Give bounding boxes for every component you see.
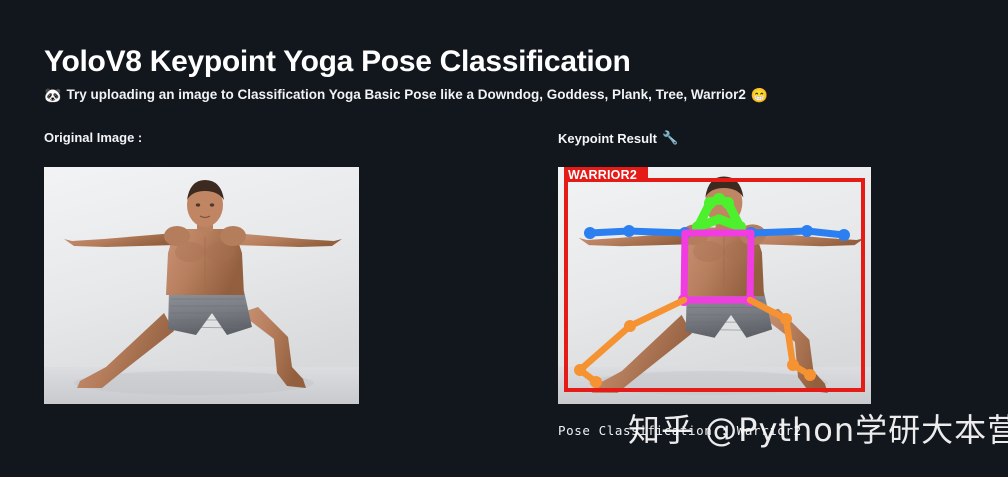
pose-classification-caption: Pose Classification : Warrior2 xyxy=(558,423,802,438)
original-image-canvas xyxy=(44,167,359,404)
grinning-face-icon: 😁 xyxy=(751,88,768,102)
keypoint-result-label: Keypoint Result 🔧 xyxy=(558,130,678,146)
page-subtitle: 🐼 Try uploading an image to Classificati… xyxy=(44,87,768,102)
page-subtitle-text: Try uploading an image to Classification… xyxy=(66,87,745,102)
panda-face-icon: 🐼 xyxy=(44,88,61,102)
keypoint-result-label-text: Keypoint Result xyxy=(558,131,657,146)
app-root: YoloV8 Keypoint Yoga Pose Classification… xyxy=(0,0,1008,477)
original-image xyxy=(44,167,359,404)
original-image-label: Original Image : xyxy=(44,130,142,145)
keypoint-result-image: WARRIOR2 xyxy=(558,167,871,404)
detection-label-text: WARRIOR2 xyxy=(568,168,637,182)
original-image-label-text: Original Image : xyxy=(44,130,142,145)
wrench-icon: 🔧 xyxy=(662,130,678,146)
keypoint-result-canvas: WARRIOR2 xyxy=(558,167,871,404)
page-title: YoloV8 Keypoint Yoga Pose Classification xyxy=(44,45,630,79)
